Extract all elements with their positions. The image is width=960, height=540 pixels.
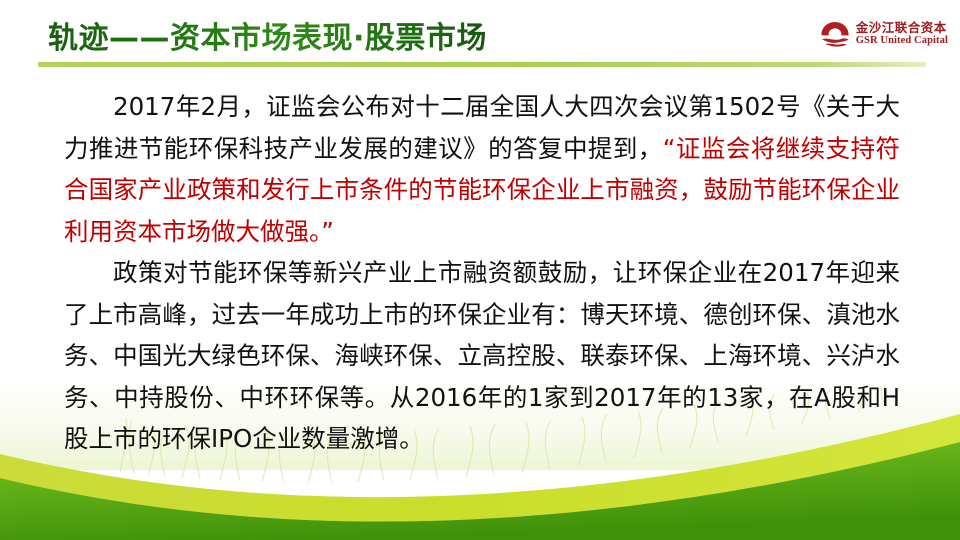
logo-name-cn: 金沙江联合资本 <box>856 21 948 35</box>
quote-open-mark: “ <box>663 134 676 163</box>
title-underline-rule <box>38 62 926 67</box>
page-title: 轨迹——资本市场表现·股票市场 <box>48 20 487 58</box>
slide-body: 2017年2月，证监会公布对十二届全国人大四次会议第1502号《关于大力推进节能… <box>64 86 900 460</box>
company-logo: 金沙江联合资本 GSR United Capital <box>820 20 948 48</box>
quote-close-mark: ” <box>321 217 334 246</box>
gsr-sun-wave-emblem-icon <box>820 20 850 48</box>
paragraph-policy-announcement: 2017年2月，证监会公布对十二届全国人大四次会议第1502号《关于大力推进节能… <box>64 86 900 252</box>
slide-header: 轨迹——资本市场表现·股票市场 <box>0 0 960 78</box>
paragraph-ipo-summary: 政策对节能环保等新兴产业上市融资额鼓励，让环保企业在2017年迎来了上市高峰，过… <box>64 252 900 460</box>
slide-canvas: 轨迹——资本市场表现·股票市场 金沙江联合资本 GSR United Capit… <box>0 0 960 540</box>
logo-name-en: GSR United Capital <box>856 35 948 47</box>
logo-wordmark: 金沙江联合资本 GSR United Capital <box>856 21 948 47</box>
